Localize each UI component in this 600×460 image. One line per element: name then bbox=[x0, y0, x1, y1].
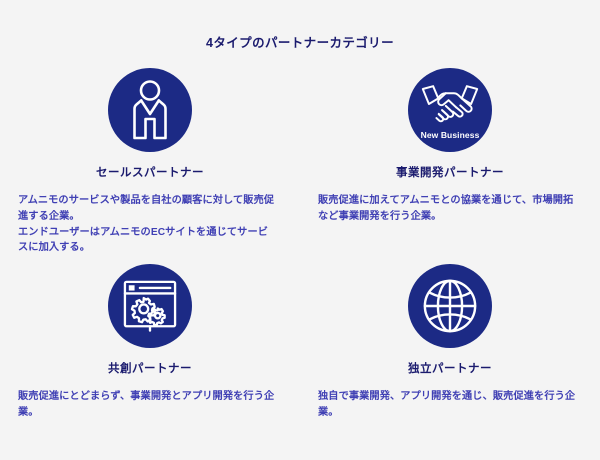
icon-wrap: New Business bbox=[318, 68, 582, 160]
partner-card-sales: セールスパートナー アムニモのサービスや製品を自社の顧客に対して販売促進する企業… bbox=[0, 68, 300, 264]
person-icon bbox=[108, 68, 192, 152]
person-icon-glyph bbox=[125, 79, 175, 141]
partner-card-cocreation: 共創パートナー 販売促進にとどまらず、事業開発とアプリ開発を行う企業。 bbox=[0, 264, 300, 460]
icon-wrap bbox=[318, 264, 582, 356]
card-body: アムニモのサービスや製品を自社の顧客に対して販売促進する企業。 エンドユーザーは… bbox=[18, 193, 282, 256]
globe-icon bbox=[408, 264, 492, 348]
icon-wrap bbox=[18, 264, 282, 356]
handshake-icon-glyph bbox=[420, 83, 480, 125]
icon-wrap bbox=[18, 68, 282, 160]
card-body: 独自で事業開発、アプリ開発を通じ、販売促進を行う企業。 bbox=[318, 389, 582, 421]
handshake-icon: New Business bbox=[408, 68, 492, 152]
badge-text: New Business bbox=[408, 130, 492, 140]
card-title: 共創パートナー bbox=[18, 360, 282, 376]
card-body: 販売促進に加えてアムニモとの協業を通じて、市場開拓など事業開発を行う企業。 bbox=[318, 193, 582, 225]
partner-category-grid: セールスパートナー アムニモのサービスや製品を自社の顧客に対して販売促進する企業… bbox=[0, 68, 600, 460]
card-title: 独立パートナー bbox=[318, 360, 582, 376]
page-title: 4タイプのパートナーカテゴリー bbox=[0, 32, 600, 51]
browser-gears-icon-glyph bbox=[122, 279, 178, 333]
card-title: 事業開発パートナー bbox=[318, 164, 582, 180]
card-title: セールスパートナー bbox=[18, 164, 282, 180]
globe-icon-glyph bbox=[421, 277, 479, 335]
partner-card-business-development: New Business 事業開発パートナー 販売促進に加えてアムニモとの協業を… bbox=[300, 68, 600, 264]
partner-card-independent: 独立パートナー 独自で事業開発、アプリ開発を通じ、販売促進を行う企業。 bbox=[300, 264, 600, 460]
card-body: 販売促進にとどまらず、事業開発とアプリ開発を行う企業。 bbox=[18, 389, 282, 421]
browser-gears-icon bbox=[108, 264, 192, 348]
